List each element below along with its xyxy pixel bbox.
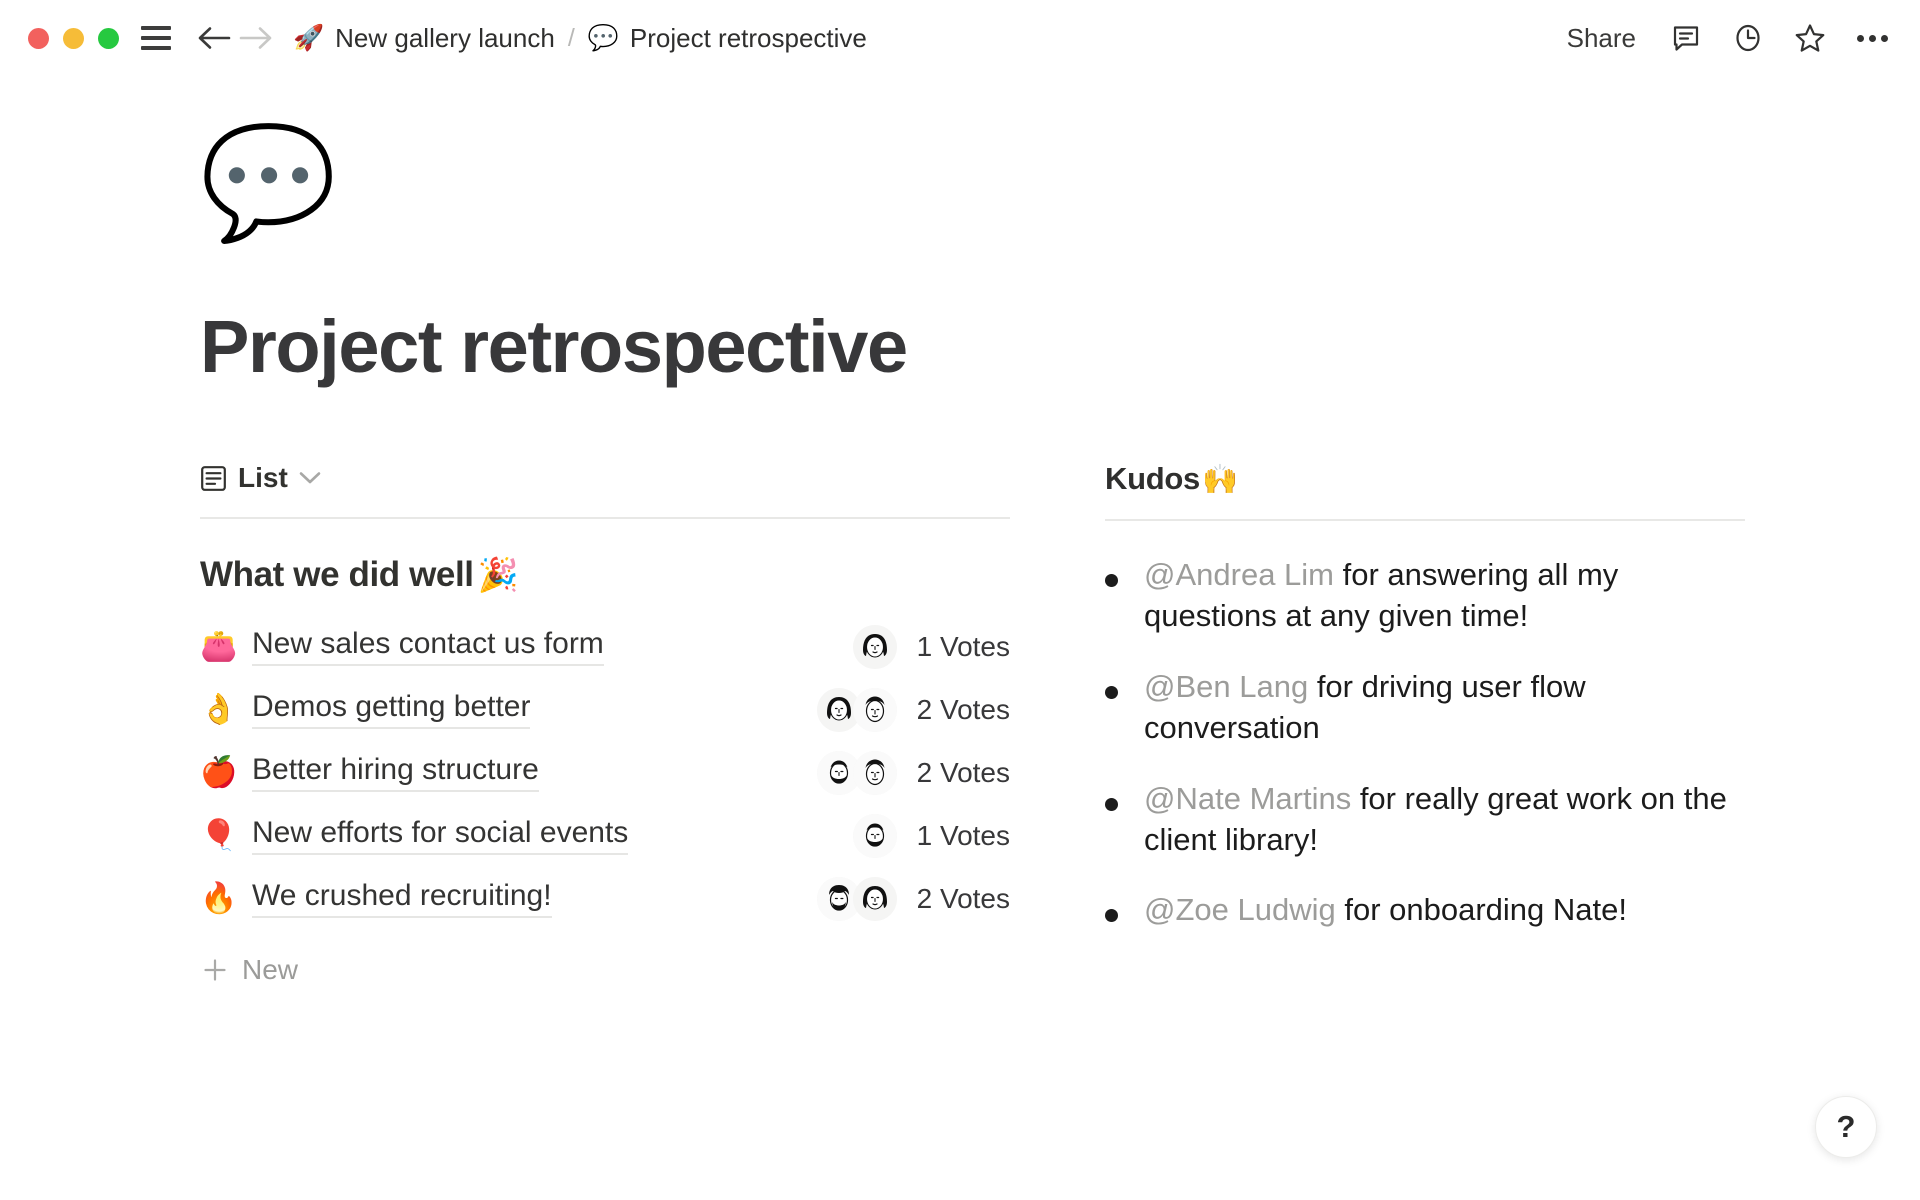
vote-count: 1 Votes xyxy=(917,820,1010,852)
avatar-man-short-hair xyxy=(853,688,897,732)
vote-count: 1 Votes xyxy=(917,631,1010,663)
kudos-item-text: @Nate Martins for really great work on t… xyxy=(1144,779,1744,861)
content-columns: List What we did well🎉 👛 New sales conta… xyxy=(200,461,1860,994)
apple-icon: 🍎 xyxy=(200,758,252,788)
breadcrumb-separator: / xyxy=(568,24,575,53)
hamburger-line xyxy=(141,36,171,40)
kudos-list-item: @Zoe Ludwig for onboarding Nate! xyxy=(1105,890,1745,931)
close-window-button[interactable] xyxy=(28,28,49,49)
list-view-icon xyxy=(200,465,227,492)
history-button[interactable] xyxy=(1730,20,1766,56)
avatar-man-beard xyxy=(853,814,897,858)
retro-item-list: 👛 New sales contact us form xyxy=(200,615,1010,930)
avatar-man-short-hair xyxy=(853,751,897,795)
avatar-group[interactable] xyxy=(790,814,897,858)
maximize-window-button[interactable] xyxy=(98,28,119,49)
mention-link[interactable]: @Zoe Ludwig xyxy=(1144,892,1336,927)
speech-balloon-icon: 💬 xyxy=(588,26,619,51)
clock-icon xyxy=(1733,23,1763,53)
list-item-title[interactable]: New efforts for social events xyxy=(252,816,628,855)
avatar[interactable] xyxy=(853,814,897,858)
window-controls xyxy=(28,28,119,49)
avatar-woman-dark-hair xyxy=(853,877,897,921)
more-dot xyxy=(1869,35,1876,42)
arrow-right-icon xyxy=(239,25,273,51)
kudos-list-item: @Andrea Lim for answering all my questio… xyxy=(1105,555,1745,637)
kudos-item-body: for onboarding Nate! xyxy=(1336,892,1627,927)
plus-icon xyxy=(202,957,228,983)
star-icon xyxy=(1794,22,1826,54)
list-item-meta: 1 Votes xyxy=(790,814,1010,858)
mention-link[interactable]: @Andrea Lim xyxy=(1144,557,1334,592)
kudos-list: @Andrea Lim for answering all my questio… xyxy=(1105,555,1745,931)
list-item[interactable]: 🍎 Better hiring structure xyxy=(200,741,1010,804)
list-item[interactable]: 🎈 New efforts for social events xyxy=(200,804,1010,867)
kudos-item-text: @Ben Lang for driving user flow conversa… xyxy=(1144,667,1744,749)
kudos-item-text: @Andrea Lim for answering all my questio… xyxy=(1144,555,1744,637)
rocket-icon: 🚀 xyxy=(293,26,324,51)
comment-button[interactable] xyxy=(1668,20,1704,56)
add-new-item-label: New xyxy=(242,954,298,986)
bullet-icon xyxy=(1105,686,1118,699)
ok-hand-icon: 👌 xyxy=(200,695,252,725)
avatar-group[interactable] xyxy=(790,625,897,669)
hamburger-line xyxy=(141,26,171,30)
kudos-heading-text: Kudos xyxy=(1105,461,1200,496)
more-dot xyxy=(1857,35,1864,42)
breadcrumb-current-link[interactable]: Project retrospective xyxy=(630,23,867,54)
avatar-woman-dark-hair xyxy=(853,625,897,669)
vote-count: 2 Votes xyxy=(917,694,1010,726)
party-popper-icon: 🎉 xyxy=(478,556,519,593)
list-item-meta: 2 Votes xyxy=(790,751,1010,795)
arrow-left-icon xyxy=(197,25,231,51)
bullet-icon xyxy=(1105,909,1118,922)
kudos-heading: Kudos🙌 xyxy=(1105,461,1745,497)
view-selector-label: List xyxy=(238,462,288,494)
list-item-title[interactable]: We crushed recruiting! xyxy=(252,879,552,918)
kudos-item-text: @Zoe Ludwig for onboarding Nate! xyxy=(1144,890,1627,931)
section-heading: What we did well🎉 xyxy=(200,555,1010,595)
hamburger-line xyxy=(141,46,171,50)
chevron-down-icon xyxy=(299,471,321,485)
kudos-list-item: @Nate Martins for really great work on t… xyxy=(1105,779,1745,861)
minimize-window-button[interactable] xyxy=(63,28,84,49)
avatar[interactable] xyxy=(853,688,897,732)
mention-link[interactable]: @Nate Martins xyxy=(1144,781,1351,816)
avatar-group[interactable] xyxy=(790,751,897,795)
breadcrumb: 🚀 New gallery launch / 💬 Project retrosp… xyxy=(293,23,867,54)
avatar[interactable] xyxy=(853,625,897,669)
page-content: 💬 Project retrospective List What we did… xyxy=(0,128,1920,994)
avatar-group[interactable] xyxy=(790,877,897,921)
list-item[interactable]: 👛 New sales contact us form xyxy=(200,615,1010,678)
list-item-title[interactable]: New sales contact us form xyxy=(252,627,604,666)
favorite-button[interactable] xyxy=(1792,20,1828,56)
list-item[interactable]: 👌 Demos getting better xyxy=(200,678,1010,741)
window-title-bar: 🚀 New gallery launch / 💬 Project retrosp… xyxy=(0,0,1920,76)
balloon-icon: 🎈 xyxy=(200,821,252,851)
more-options-button[interactable] xyxy=(1854,20,1890,56)
bullet-icon xyxy=(1105,574,1118,587)
avatar[interactable] xyxy=(853,877,897,921)
list-item-meta: 2 Votes xyxy=(790,877,1010,921)
avatar[interactable] xyxy=(853,751,897,795)
more-dot xyxy=(1881,35,1888,42)
fire-icon: 🔥 xyxy=(200,884,252,914)
vote-count: 2 Votes xyxy=(917,883,1010,915)
list-item-meta: 1 Votes xyxy=(790,625,1010,669)
right-column: Kudos🙌 @Andrea Lim for answering all my … xyxy=(1105,461,1745,994)
list-item[interactable]: 🔥 We crushed recruiting! xyxy=(200,867,1010,930)
section-divider xyxy=(200,517,1010,519)
kudos-divider xyxy=(1105,519,1745,521)
left-column: List What we did well🎉 👛 New sales conta… xyxy=(200,461,1010,994)
hamburger-menu-icon[interactable] xyxy=(141,26,171,50)
kudos-list-item: @Ben Lang for driving user flow conversa… xyxy=(1105,667,1745,749)
list-item-meta: 2 Votes xyxy=(790,688,1010,732)
section-heading-text: What we did well xyxy=(200,555,474,594)
list-item-title[interactable]: Better hiring structure xyxy=(252,753,539,792)
list-item-title[interactable]: Demos getting better xyxy=(252,690,530,729)
avatar-group[interactable] xyxy=(790,688,897,732)
page-icon-speech-balloon[interactable]: 💬 xyxy=(200,128,350,238)
raising-hands-icon: 🙌 xyxy=(1202,464,1238,496)
topbar-actions: Share xyxy=(1561,0,1890,76)
vote-count: 2 Votes xyxy=(917,757,1010,789)
view-selector[interactable]: List xyxy=(200,461,1010,495)
forward-button[interactable] xyxy=(235,17,277,59)
purse-icon: 👛 xyxy=(200,632,252,662)
share-button[interactable]: Share xyxy=(1561,19,1642,58)
back-button[interactable] xyxy=(193,17,235,59)
breadcrumb-parent-link[interactable]: New gallery launch xyxy=(335,23,555,54)
mention-link[interactable]: @Ben Lang xyxy=(1144,669,1308,704)
add-new-item-button[interactable]: New xyxy=(202,946,1010,994)
page-title[interactable]: Project retrospective xyxy=(200,304,1860,389)
bullet-icon xyxy=(1105,798,1118,811)
help-button[interactable]: ? xyxy=(1815,1096,1877,1158)
comment-icon xyxy=(1671,23,1701,53)
